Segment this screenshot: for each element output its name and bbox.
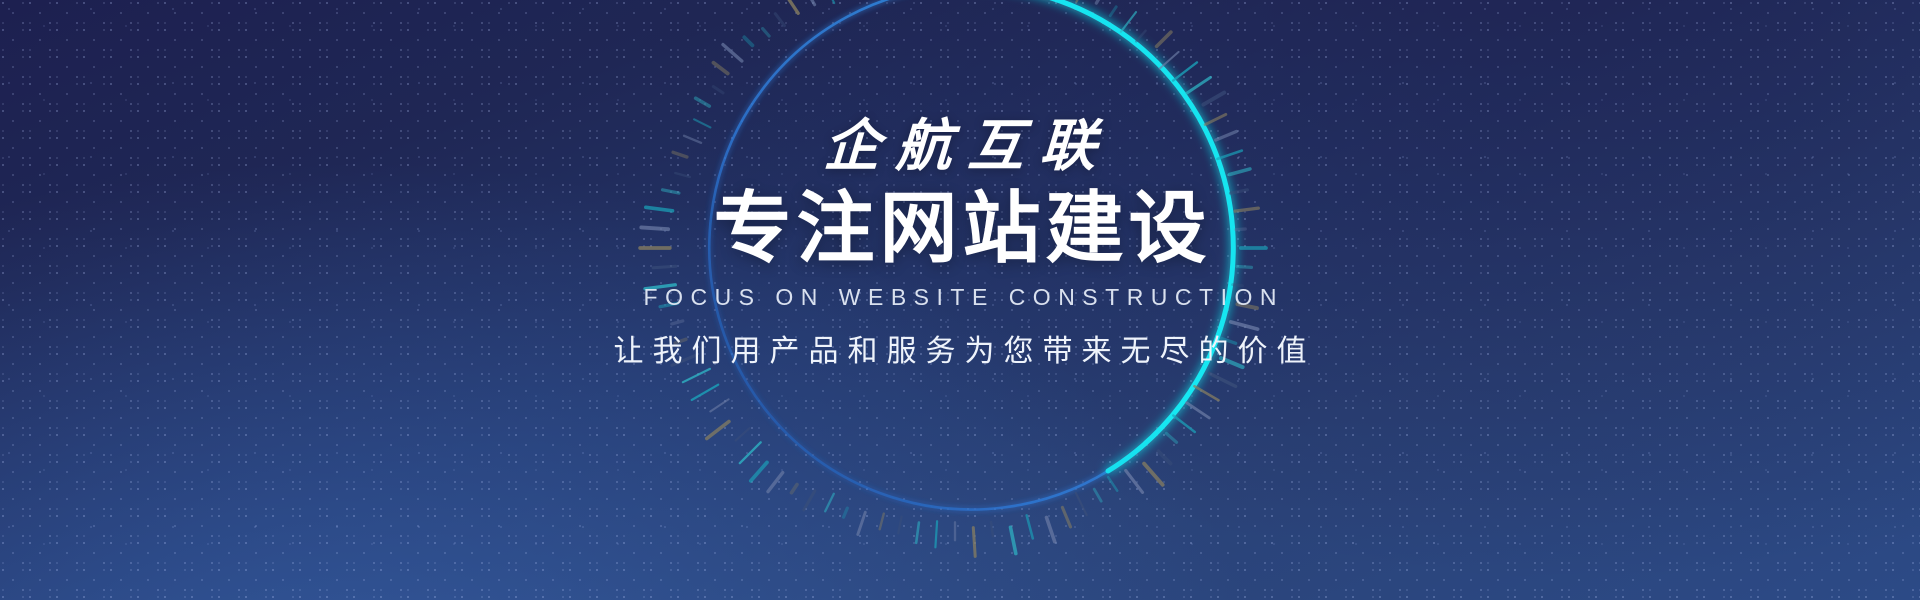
banner-copy-block: 企航互联 专注网站建设 FOCUS ON WEBSITE CONSTRUCTIO… [0,0,1920,600]
hero-banner: 企航互联 专注网站建设 FOCUS ON WEBSITE CONSTRUCTIO… [0,0,1920,600]
subtitle-chinese: 让我们用产品和服务为您带来无尽的价值 [605,337,1316,367]
subtitle-english: FOCUS ON WEBSITE CONSTRUCTION [636,286,1284,309]
brand-title: 企航互联 [807,118,1114,174]
headline-title: 专注网站建设 [708,190,1211,270]
